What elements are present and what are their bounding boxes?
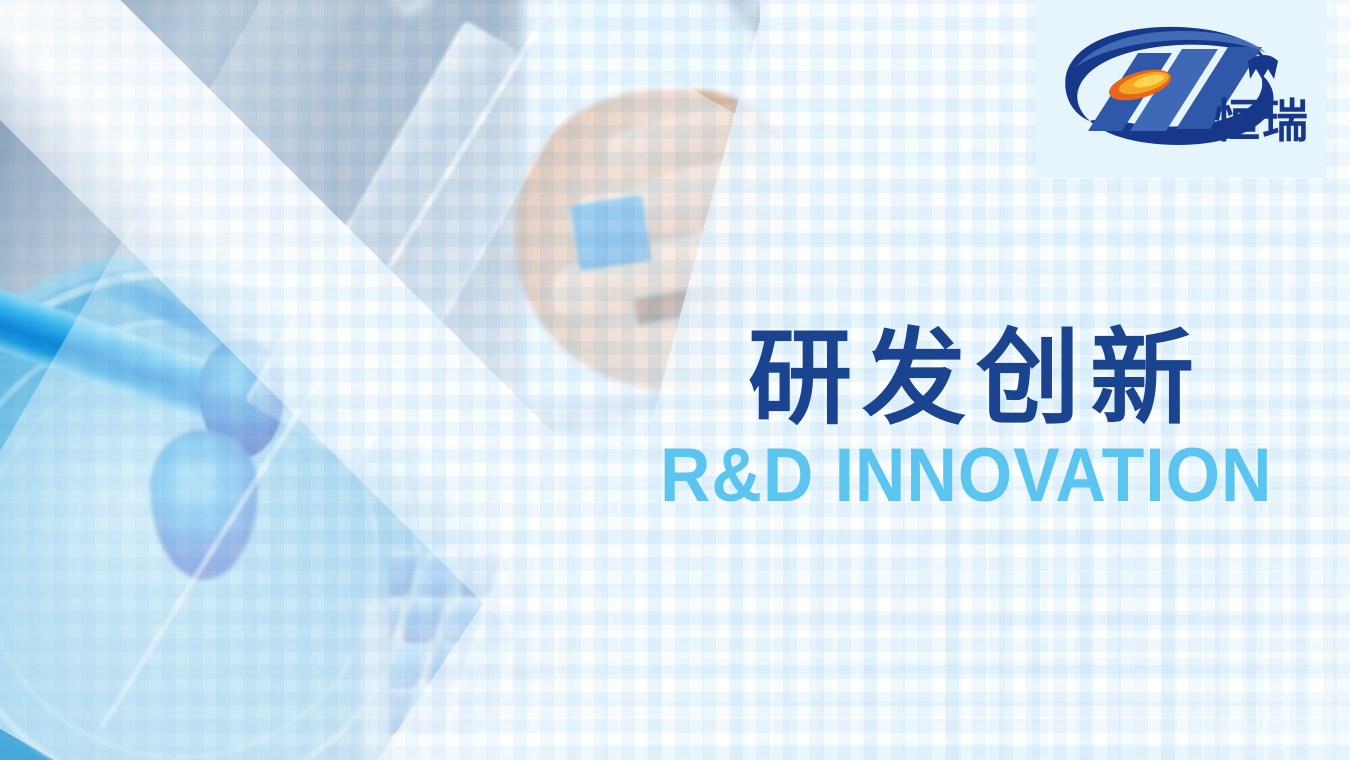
page-subtitle-en: R&D INNOVATION: [660, 438, 1293, 514]
logo-brand-text: 恒瑞: [1214, 85, 1310, 151]
logo-box[interactable]: 恒瑞: [1036, 0, 1326, 178]
title-block: 研发创新 R&D INNOVATION: [748, 322, 1348, 514]
page-title-cn: 研发创新: [748, 322, 1348, 434]
logo-inner: 恒瑞: [1052, 23, 1310, 155]
rd-innovation-banner: 研发创新 R&D INNOVATION 恒瑞: [0, 0, 1350, 760]
